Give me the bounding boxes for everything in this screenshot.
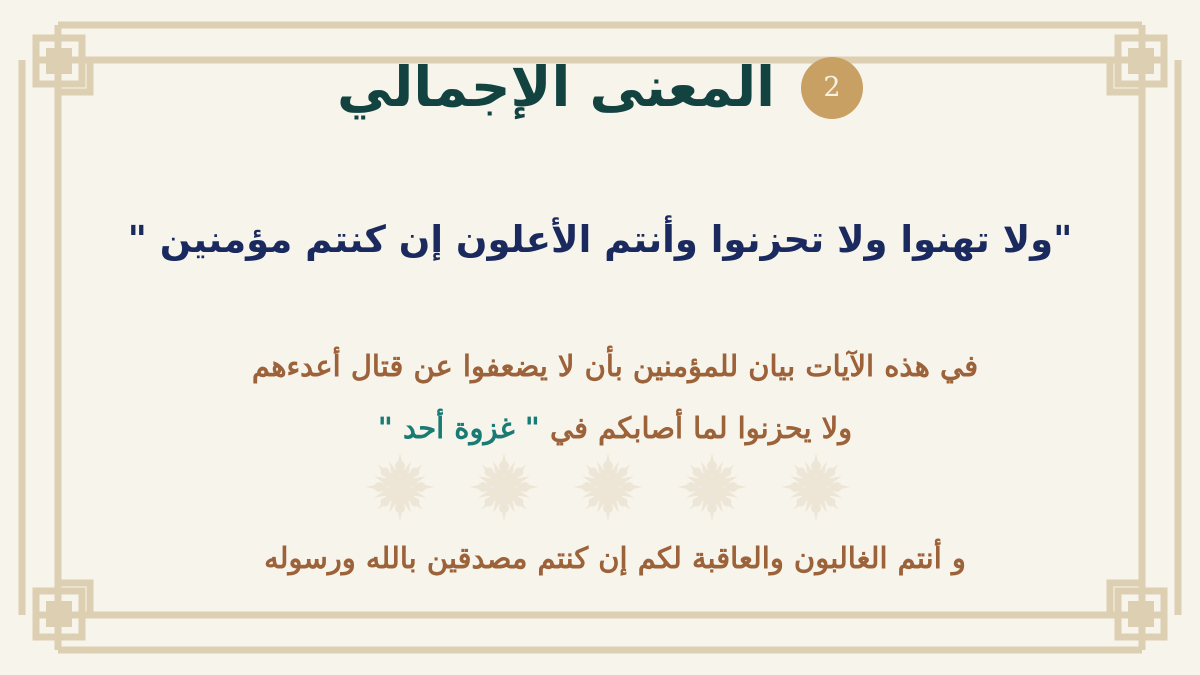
title-row: 2 المعنى الإجمالي: [0, 56, 1200, 119]
quran-verse: "ولا تهنوا ولا تحزنوا وأنتم الأعلون إن ك…: [0, 216, 1200, 264]
slide-number-badge: 2: [801, 57, 863, 119]
slide-number-label: 2: [823, 74, 840, 101]
quote-close-mark: ": [378, 411, 393, 445]
explanation-paragraph-3: و أنتم الغالبون والعاقبة لكم إن كنتم مصد…: [0, 536, 1200, 581]
slide: 2 المعنى الإجمالي "ولا تهنوا ولا تحزنوا …: [0, 0, 1200, 675]
explanation-paragraph-1: في هذه الآيات بيان للمؤمنين بأن لا يضعفو…: [0, 344, 1200, 389]
page-title: المعنى الإجمالي: [337, 56, 775, 119]
quote-open-mark: ": [525, 411, 540, 445]
battle-of-uhud-highlight: غزوة أحد: [393, 411, 525, 445]
slide-content: 2 المعنى الإجمالي "ولا تهنوا ولا تحزنوا …: [0, 0, 1200, 675]
paragraph-2-text-before: ولا يحزنوا لما أصابكم في: [540, 411, 852, 445]
explanation-paragraph-2: ولا يحزنوا لما أصابكم في " غزوة أحد ": [0, 406, 1200, 451]
